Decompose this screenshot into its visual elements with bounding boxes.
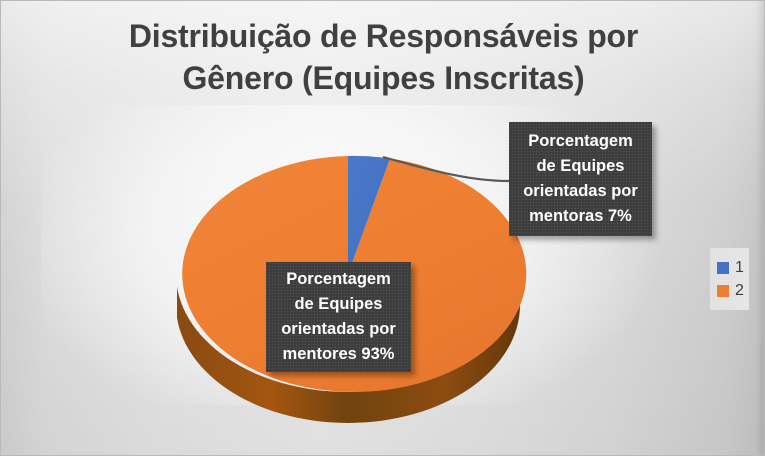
data-label-mentoras-text: Porcentagem de Equipes orientadas por me… — [523, 129, 638, 229]
legend-label-1: 1 — [735, 260, 744, 276]
legend-swatch-1-icon — [717, 262, 729, 274]
data-label-mentores-text: Porcentagem de Equipes orientadas por me… — [281, 267, 396, 367]
pie-chart-image: Distribuição de Responsáveis por Gênero … — [0, 0, 765, 456]
chart-title: Distribuição de Responsáveis por Gênero … — [61, 15, 706, 99]
legend-item-2: 2 — [717, 279, 749, 302]
data-label-mentores: Porcentagem de Equipes orientadas por me… — [266, 262, 411, 372]
frame-right-edge — [755, 1, 764, 455]
chart-legend: 1 2 — [710, 248, 749, 310]
legend-swatch-2-icon — [717, 285, 729, 297]
legend-label-2: 2 — [735, 283, 744, 299]
legend-item-1: 1 — [717, 256, 749, 279]
data-label-mentoras: Porcentagem de Equipes orientadas por me… — [509, 122, 652, 236]
